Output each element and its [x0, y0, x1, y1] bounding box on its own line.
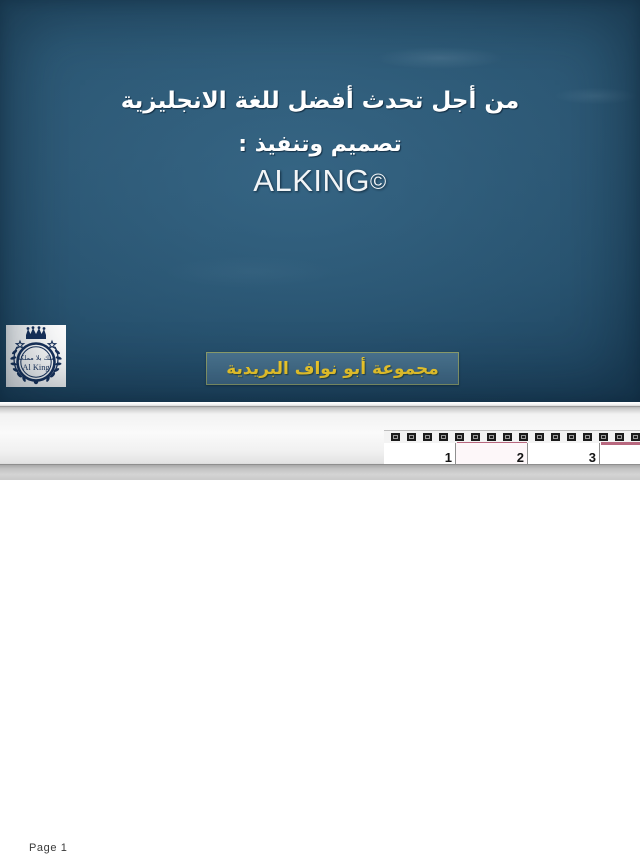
slide-viewer-window: من أجل تحدث أفضل للغة الانجليزية تصميم و…	[0, 0, 640, 480]
filmstrip-sprocket-hole	[599, 433, 608, 441]
filmstrip-sprocket-hole	[551, 433, 560, 441]
window-footer-strip	[0, 464, 640, 480]
filmstrip-segment-number: 2	[517, 450, 524, 464]
filmstrip-segment-number: 1	[445, 450, 452, 464]
filmstrip-sprocket-hole	[615, 433, 624, 441]
filmstrip-sprocket-hole	[503, 433, 512, 441]
al-king-logo: ملك بلا مملكة Al King	[6, 325, 66, 387]
slide-title-block: من أجل تحدث أفضل للغة الانجليزية تصميم و…	[0, 86, 640, 201]
mailing-group-banner-text: مجموعة أبو نواف البريدية	[226, 359, 439, 379]
filmstrip-sprocket-hole	[455, 433, 464, 441]
page-filmstrip-scrubber[interactable]: 123	[384, 430, 640, 464]
filmstrip-sprocket-hole	[391, 433, 400, 441]
al-king-emblem-icon: ملك بلا مملكة Al King	[6, 325, 66, 387]
svg-text:Al King: Al King	[22, 363, 50, 372]
filmstrip-segment[interactable]: 1	[384, 443, 456, 464]
filmstrip-segment-number: 3	[589, 450, 596, 464]
slide-subtitle-credits-label: تصميم وتنفيذ :	[0, 130, 640, 159]
filmstrip-sprocket-hole	[471, 433, 480, 441]
filmstrip-sprocket-hole	[487, 433, 496, 441]
filmstrip-segment-track[interactable]: 123	[384, 443, 640, 464]
copyright-icon: ©	[370, 169, 387, 194]
filmstrip-sprocket-hole	[423, 433, 432, 441]
author-name-text: ALKING	[253, 163, 370, 198]
slide-title-primary: من أجل تحدث أفضل للغة الانجليزية	[0, 86, 640, 116]
filmstrip-segment[interactable]: 2	[456, 443, 528, 464]
page-number-label: Page 1	[29, 842, 67, 854]
filmstrip-segment[interactable]: 3	[528, 443, 600, 464]
filmstrip-sprocket-hole	[439, 433, 448, 441]
filmstrip-sprocket-hole	[567, 433, 576, 441]
filmstrip-sprocket-hole	[535, 433, 544, 441]
slide-canvas[interactable]: من أجل تحدث أفضل للغة الانجليزية تصميم و…	[0, 0, 640, 402]
slide-background-haze	[0, 0, 640, 402]
mailing-group-banner: مجموعة أبو نواف البريدية	[206, 352, 459, 385]
filmstrip-sprocket-hole	[407, 433, 416, 441]
filmstrip-sprocket-hole	[631, 433, 640, 441]
filmstrip-sprocket-hole	[583, 433, 592, 441]
svg-text:ملك بلا مملكة: ملك بلا مملكة	[17, 354, 54, 362]
slide-author-name: ALKING©	[0, 162, 640, 201]
filmstrip-sprocket-hole	[519, 433, 528, 441]
slide-vignette	[0, 0, 640, 402]
